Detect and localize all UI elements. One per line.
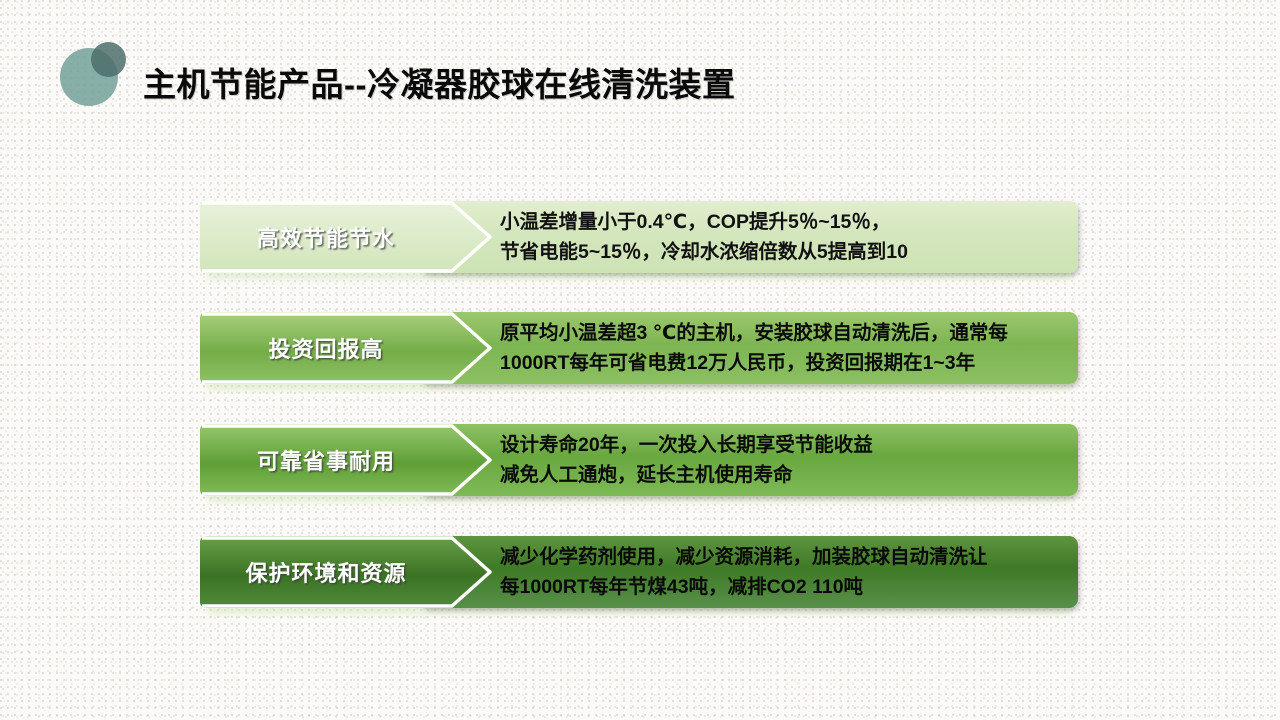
row-body-text: 减少化学药剂使用，减少资源消耗，加装胶球自动清洗让 每1000RT每年节煤43吨… [500,542,988,602]
row-label-chevron[interactable]: 高效节能节水 [200,201,492,273]
benefit-row[interactable]: 原平均小温差超3 ℃的主机，安装胶球自动清洗后，通常每 1000RT每年可省电费… [200,312,1078,384]
row-body-line2: 1000RT每年可省电费12万人民币，投资回报期在1~3年 [500,348,1008,378]
row-body-line2: 节省电能5~15％，冷却水浓缩倍数从5提高到10 [500,237,908,267]
row-body-panel: 设计寿命20年，一次投入长期享受节能收益 减免人工通炮，延长主机使用寿命 [420,424,1078,496]
row-body-line2: 减免人工通炮，延长主机使用寿命 [500,460,873,490]
row-label-text: 高效节能节水 [200,201,452,273]
row-body-text: 小温差增量小于0.4℃，COP提升5％~15％， 节省电能5~15％，冷却水浓缩… [500,207,908,267]
row-body-text: 设计寿命20年，一次投入长期享受节能收益 减免人工通炮，延长主机使用寿命 [500,430,873,490]
slide: 主机节能产品--冷凝器胶球在线清洗装置 小温差增量小于0.4℃，COP提升5％~… [0,0,1280,720]
row-label-text: 投资回报高 [200,312,452,384]
row-body-panel: 小温差增量小于0.4℃，COP提升5％~15％， 节省电能5~15％，冷却水浓缩… [420,201,1078,273]
benefit-row[interactable]: 小温差增量小于0.4℃，COP提升5％~15％， 节省电能5~15％，冷却水浓缩… [200,201,1078,273]
row-label-text: 保护环境和资源 [200,536,452,608]
benefit-rows: 小温差增量小于0.4℃，COP提升5％~15％， 节省电能5~15％，冷却水浓缩… [0,0,1280,720]
row-label-chevron[interactable]: 投资回报高 [200,312,492,384]
row-body-line1: 减少化学药剂使用，减少资源消耗，加装胶球自动清洗让 [500,546,988,568]
row-body-panel: 原平均小温差超3 ℃的主机，安装胶球自动清洗后，通常每 1000RT每年可省电费… [420,312,1078,384]
row-label-text: 可靠省事耐用 [200,424,452,496]
row-body-panel: 减少化学药剂使用，减少资源消耗，加装胶球自动清洗让 每1000RT每年节煤43吨… [420,536,1078,608]
row-body-line1: 小温差增量小于0.4℃，COP提升5％~15％， [500,211,890,233]
row-body-text: 原平均小温差超3 ℃的主机，安装胶球自动清洗后，通常每 1000RT每年可省电费… [500,318,1008,378]
row-label-chevron[interactable]: 保护环境和资源 [200,536,492,608]
row-label-chevron[interactable]: 可靠省事耐用 [200,424,492,496]
row-body-line2: 每1000RT每年节煤43吨，减排CO2 110吨 [500,572,988,602]
row-body-line1: 设计寿命20年，一次投入长期享受节能收益 [500,434,873,456]
benefit-row[interactable]: 设计寿命20年，一次投入长期享受节能收益 减免人工通炮，延长主机使用寿命 可靠省… [200,424,1078,496]
benefit-row[interactable]: 减少化学药剂使用，减少资源消耗，加装胶球自动清洗让 每1000RT每年节煤43吨… [200,536,1078,608]
row-body-line1: 原平均小温差超3 ℃的主机，安装胶球自动清洗后，通常每 [500,322,1008,344]
